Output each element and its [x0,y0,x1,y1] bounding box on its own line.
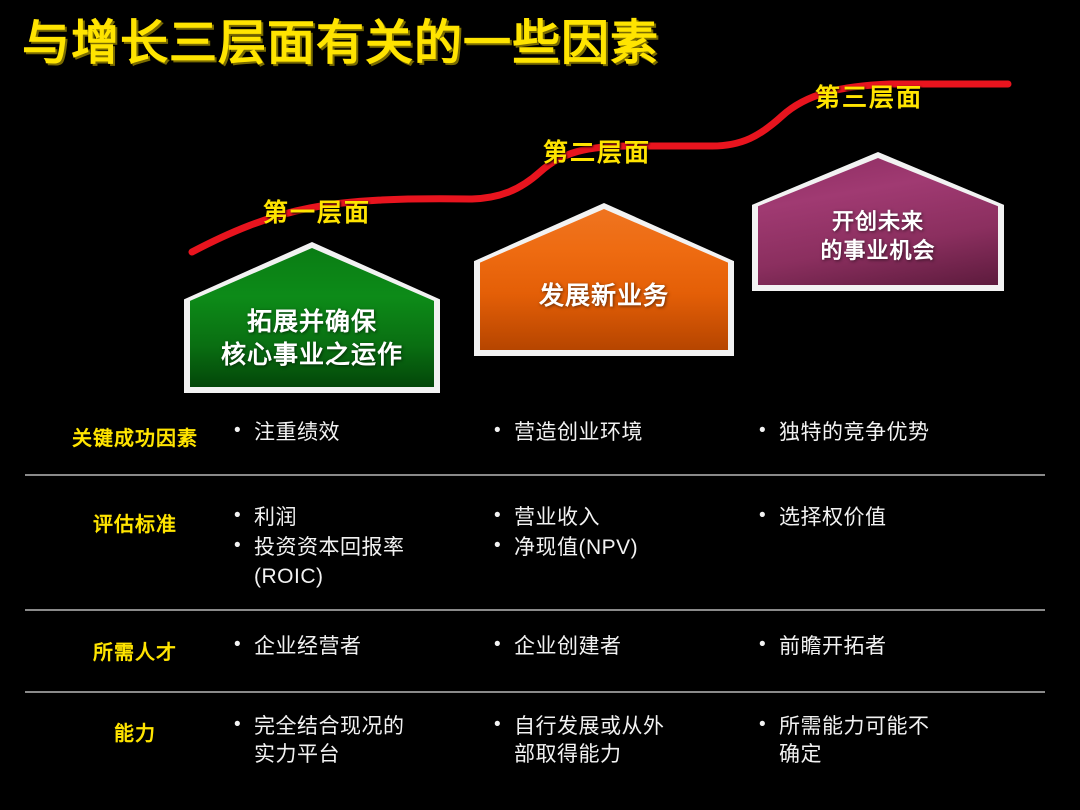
row-label-key-success-factors: 关键成功因素 [45,422,225,451]
list-item: 独特的竞争优势 [757,419,1037,447]
horizon-1-shape-label: 拓展并确保 核心事业之运作 [221,264,403,371]
row-2-cell-horizon-3: 前瞻开拓者 [757,633,1037,663]
row-1-cell-horizon-2: 营业收入 净现值(NPV) [492,504,747,565]
list-item: 利润 [232,504,482,532]
row-label-evaluation-criteria: 评估标准 [45,508,225,537]
horizon-1-shape-fill: 拓展并确保 核心事业之运作 [190,248,434,387]
horizon-3-shape[interactable]: 开创未来 的事业机会 [752,152,1004,291]
list-item: 营造创业环境 [492,419,747,447]
list-item: 营业收入 [492,504,747,532]
row-0-cell-horizon-3: 独特的竞争优势 [757,419,1037,449]
table-row: 关键成功因素 注重绩效 营造创业环境 独特的竞争优势 [0,400,1080,475]
table-row: 评估标准 利润 投资资本回报率 (ROIC) 营业收入 净现值(NPV) 选择权… [0,475,1080,610]
list-item: 注重绩效 [232,419,482,447]
row-2-cell-horizon-1: 企业经营者 [232,633,482,663]
slide-canvas: 与增长三层面有关的一些因素 第一层面 第二层面 第三层面 拓展并确保 核心事业之… [0,0,1080,810]
horizon-3-shape-fill: 开创未来 的事业机会 [758,158,998,285]
row-label-capabilities: 能力 [45,717,225,746]
table-row: 所需人才 企业经营者 企业创建者 前瞻开拓者 [0,610,1080,692]
horizon-2-shape-label: 发展新业务 [539,246,669,313]
comparison-matrix: 关键成功因素 注重绩效 营造创业环境 独特的竞争优势 评估标准 利润 投资资本回… [0,400,1080,792]
list-item: 完全结合现况的 实力平台 [232,713,482,770]
row-3-cell-horizon-3: 所需能力可能不 确定 [757,713,1037,772]
row-3-cell-horizon-1: 完全结合现况的 实力平台 [232,713,482,772]
horizon-2-shape[interactable]: 发展新业务 [474,203,734,356]
table-row: 能力 完全结合现况的 实力平台 自行发展或从外 部取得能力 所需能力可能不 确定 [0,692,1080,792]
list-item: 投资资本回报率 (ROIC) [232,534,482,591]
row-3-cell-horizon-2: 自行发展或从外 部取得能力 [492,713,747,772]
row-2-cell-horizon-2: 企业创建者 [492,633,747,663]
list-item: 企业创建者 [492,633,747,661]
list-item: 企业经营者 [232,633,482,661]
horizon-1-label: 第一层面 [263,193,371,229]
row-0-cell-horizon-2: 营造创业环境 [492,419,747,449]
horizon-2-label: 第二层面 [543,133,651,169]
row-0-cell-horizon-1: 注重绩效 [232,419,482,449]
list-item: 前瞻开拓者 [757,633,1037,661]
horizon-2-shape-fill: 发展新业务 [480,209,728,350]
row-label-talent-needed: 所需人才 [45,636,225,665]
list-item: 净现值(NPV) [492,534,747,562]
row-1-cell-horizon-3: 选择权价值 [757,504,1037,534]
row-1-cell-horizon-1: 利润 投资资本回报率 (ROIC) [232,504,482,593]
horizon-3-shape-label: 开创未来 的事业机会 [820,178,935,265]
list-item: 所需能力可能不 确定 [757,713,1037,770]
horizon-1-shape[interactable]: 拓展并确保 核心事业之运作 [184,242,440,393]
page-title: 与增长三层面有关的一些因素 [22,16,659,71]
list-item: 选择权价值 [757,504,1037,532]
horizon-3-label: 第三层面 [815,78,923,114]
list-item: 自行发展或从外 部取得能力 [492,713,747,770]
